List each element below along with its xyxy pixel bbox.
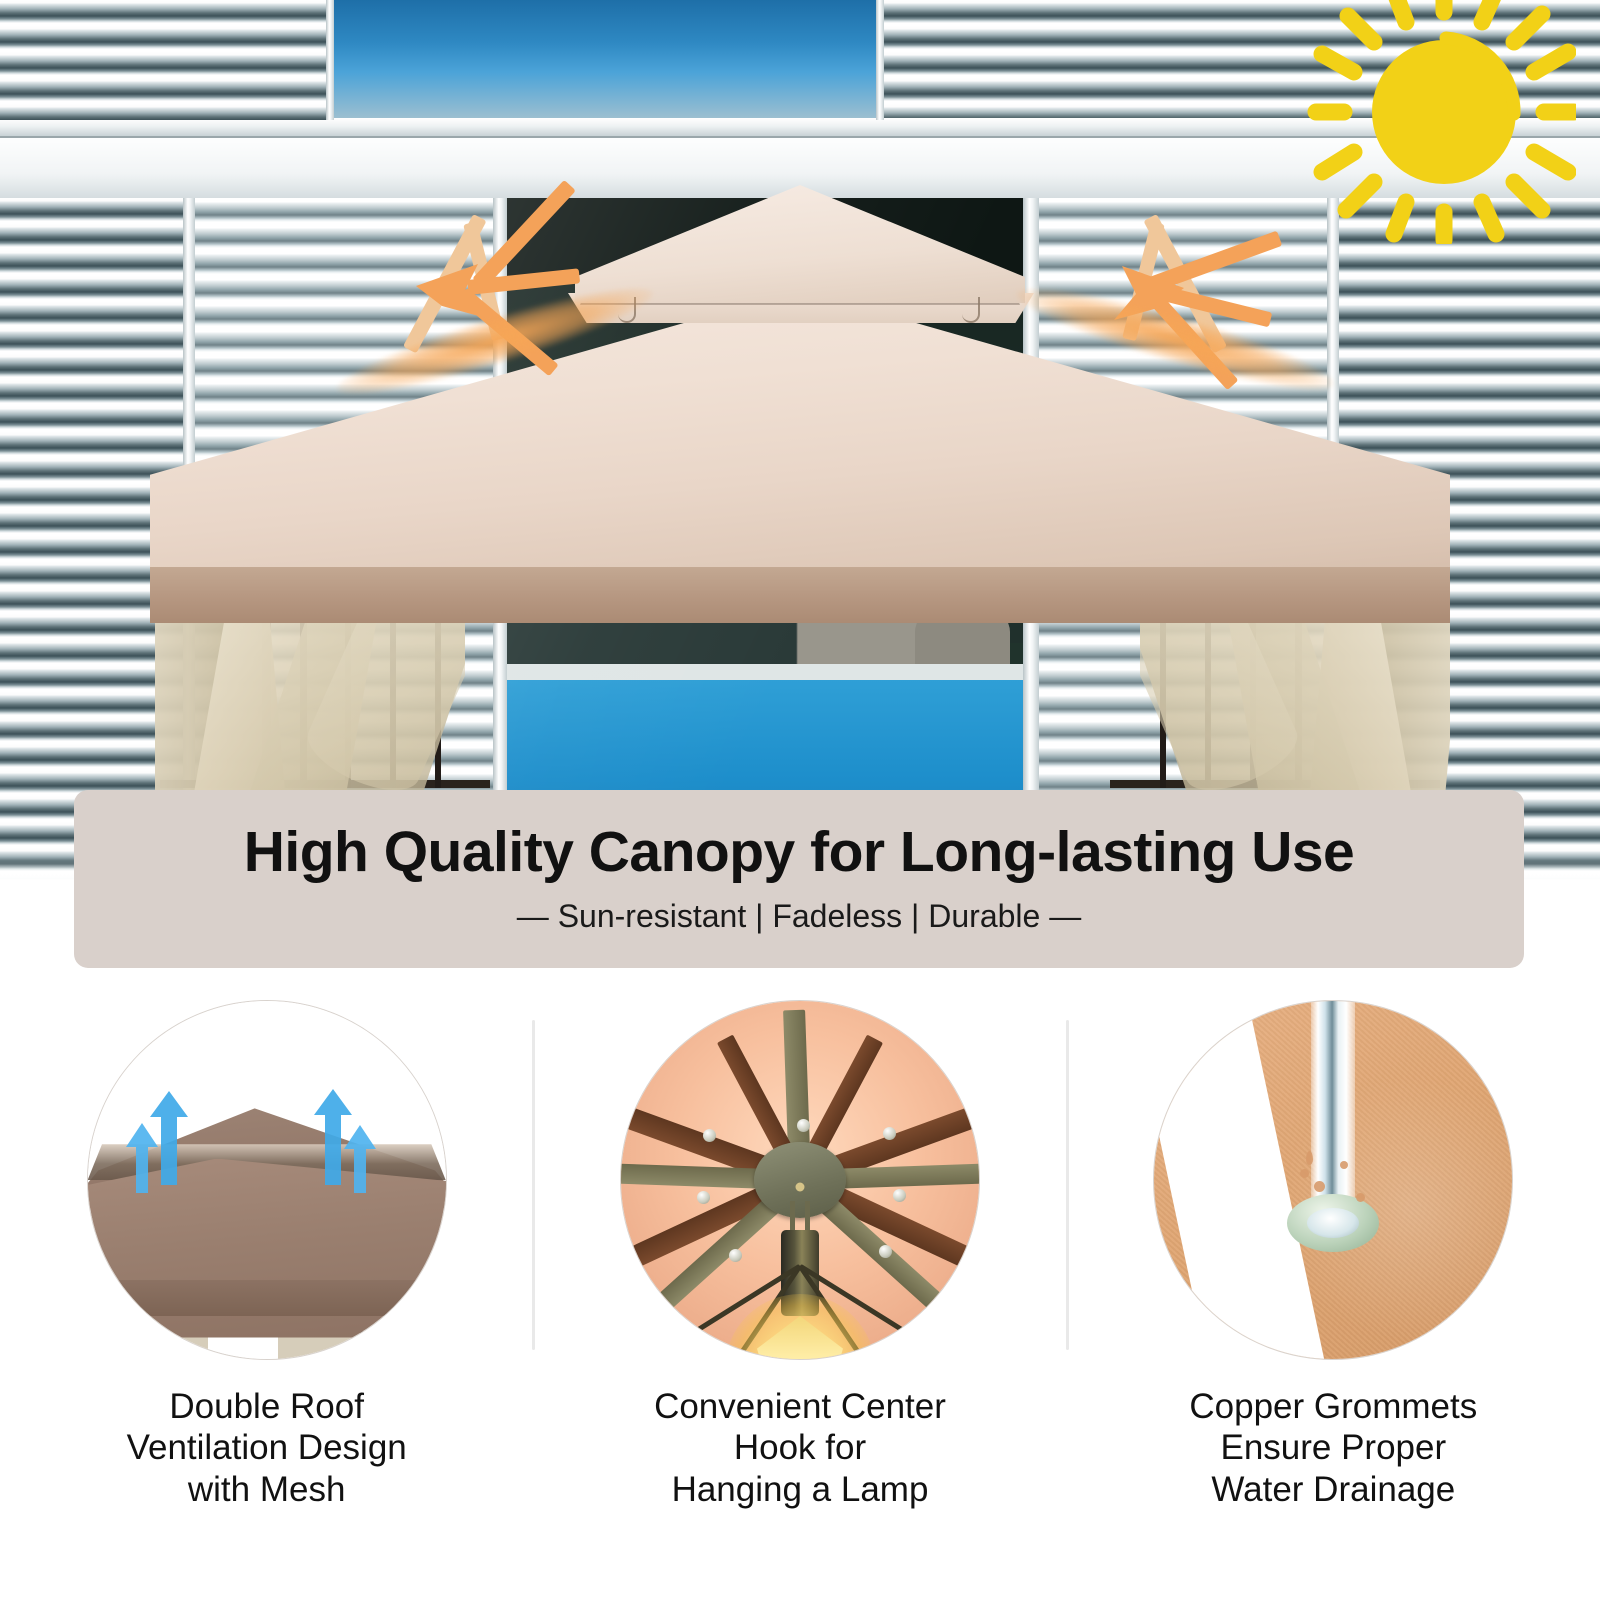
hero-photo xyxy=(0,0,1600,880)
rib-screw xyxy=(893,1189,906,1202)
feature-caption: Convenient Center Hook for Hanging a Lam… xyxy=(654,1386,946,1510)
rib-screw xyxy=(697,1191,710,1204)
rib-screw xyxy=(797,1119,810,1132)
banner-subtitle: — Sun-resistant | Fadeless | Durable — xyxy=(517,898,1081,935)
grommet-circle-icon xyxy=(1153,1000,1513,1360)
feature-caption: Double Roof Ventilation Design with Mesh xyxy=(127,1386,407,1510)
sun-icon-svg xyxy=(1276,0,1576,244)
airflow-arrow-icon xyxy=(340,1123,380,1193)
feature-ventilation: Double Roof Ventilation Design with Mesh xyxy=(0,1000,533,1600)
ventilation-circle-icon xyxy=(87,1000,447,1360)
feature-center-hook: Convenient Center Hook for Hanging a Lam… xyxy=(533,1000,1066,1600)
sun-icon xyxy=(1276,0,1576,244)
canopy-tie-hook-right xyxy=(962,297,980,323)
rib-screw xyxy=(879,1245,892,1258)
mullion-upper-1 xyxy=(326,0,334,120)
louver-panel-upper-left xyxy=(0,0,330,120)
headline-banner: High Quality Canopy for Long-lasting Use… xyxy=(74,790,1524,968)
rib-screw xyxy=(703,1129,716,1142)
rib-screw xyxy=(883,1127,896,1140)
banner-title: High Quality Canopy for Long-lasting Use xyxy=(244,823,1355,883)
feature-caption: Copper Grommets Ensure Proper Water Drai… xyxy=(1189,1386,1477,1510)
sun-ray-burst-right xyxy=(980,180,1280,400)
sun-ray-burst-left xyxy=(350,180,650,400)
canopy-edge-band xyxy=(150,567,1450,623)
feature-grommet: Copper Grommets Ensure Proper Water Drai… xyxy=(1067,1000,1600,1600)
center-hook-circle-icon xyxy=(620,1000,980,1360)
grommet-hole xyxy=(1307,1208,1359,1238)
sun-ray-arrowhead-icon xyxy=(412,256,492,330)
rib-screw xyxy=(729,1249,742,1262)
product-feature-graphic: High Quality Canopy for Long-lasting Use… xyxy=(0,0,1600,1600)
hub-screw-dot xyxy=(795,1183,804,1192)
circle1-roof-edge xyxy=(87,1280,447,1316)
airflow-arrow-icon xyxy=(146,1089,192,1185)
feature-row: Double Roof Ventilation Design with Mesh xyxy=(0,1000,1600,1600)
mullion-upper-2 xyxy=(876,0,884,120)
